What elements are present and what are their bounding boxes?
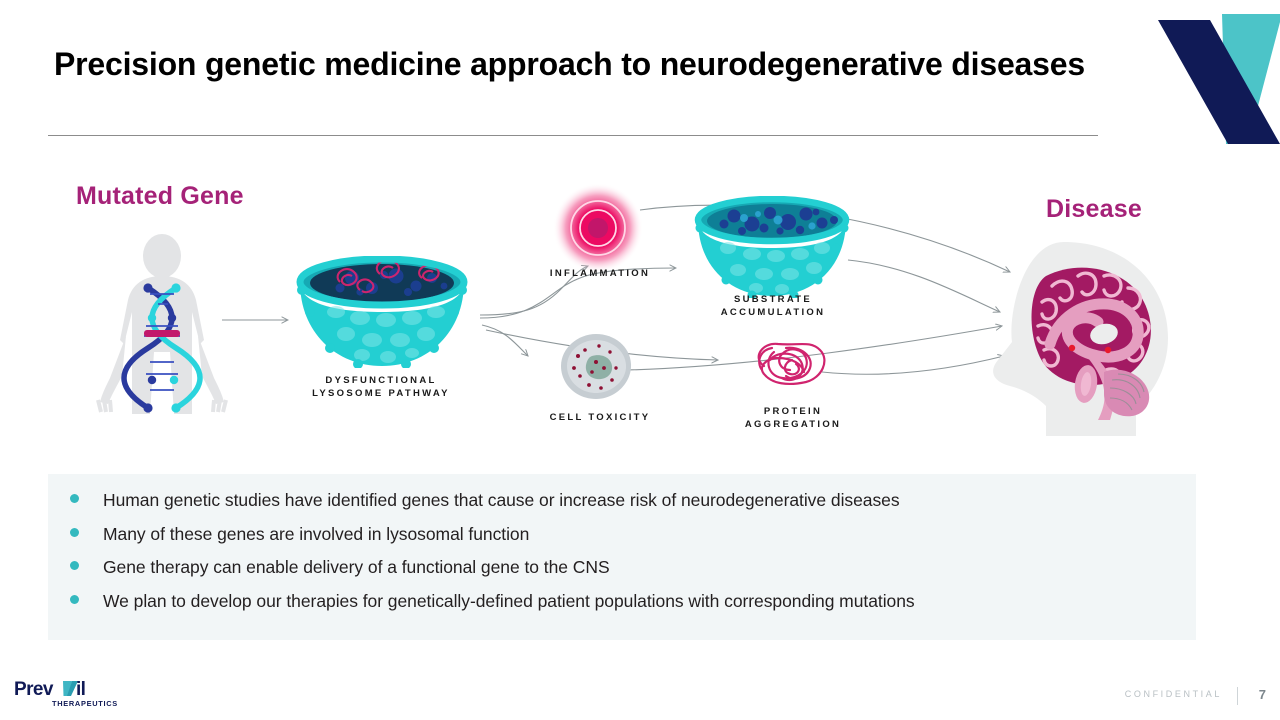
prevail-v-logo-icon	[1152, 14, 1280, 144]
bullet-dot-icon	[70, 494, 79, 503]
bullet-list: Human genetic studies have identified ge…	[70, 492, 1180, 626]
svg-text:il: il	[76, 679, 85, 700]
list-item: We plan to develop our therapies for gen…	[70, 593, 1180, 627]
caption-inflammation: INFLAMMATION	[500, 268, 700, 281]
list-item: Gene therapy can enable delivery of a fu…	[70, 559, 1180, 593]
page-title: Precision genetic medicine approach to n…	[54, 44, 1114, 84]
bullet-dot-icon	[70, 595, 79, 604]
svg-text:Prev: Prev	[14, 679, 54, 700]
footer-divider	[1237, 687, 1238, 705]
title-divider	[48, 135, 1098, 136]
list-item: Human genetic studies have identified ge…	[70, 492, 1180, 526]
prevail-wordmark-logo: Prev il THERAPEUTICS	[14, 678, 126, 710]
human-body-dna-icon	[88, 232, 236, 419]
bullet-text: We plan to develop our therapies for gen…	[103, 593, 915, 611]
inflammation-target-icon	[552, 182, 644, 279]
dysfunctional-lysosome-icon	[296, 256, 468, 373]
list-item: Many of these genes are involved in lyso…	[70, 526, 1180, 560]
caption-toxicity: CELL TOXICITY	[505, 412, 695, 425]
head-brain-icon	[986, 240, 1186, 441]
toxic-cell-icon	[558, 332, 634, 407]
bullet-text: Many of these genes are involved in lyso…	[103, 526, 529, 544]
bullet-dot-icon	[70, 561, 79, 570]
caption-lysosome: DYSFUNCTIONAL LYSOSOME PATHWAY	[290, 375, 472, 401]
caption-substrate: SUBSTRATE ACCUMULATION	[690, 294, 856, 320]
protein-tangle-icon	[748, 336, 832, 403]
bullet-dot-icon	[70, 528, 79, 537]
slide: Precision genetic medicine approach to n…	[0, 0, 1280, 720]
pathway-diagram: DYSFUNCTIONAL LYSOSOME PATHWAY INFLAMMAT…	[0, 160, 1280, 460]
substrate-accumulation-lysosome-icon	[694, 196, 850, 303]
bullet-text: Human genetic studies have identified ge…	[103, 492, 900, 510]
caption-aggregation: PROTEIN AGGREGATION	[700, 406, 886, 432]
confidential-label: CONFIDENTIAL	[1125, 689, 1222, 699]
svg-text:THERAPEUTICS: THERAPEUTICS	[52, 699, 118, 708]
page-number: 7	[1259, 687, 1266, 702]
bullet-text: Gene therapy can enable delivery of a fu…	[103, 559, 610, 577]
